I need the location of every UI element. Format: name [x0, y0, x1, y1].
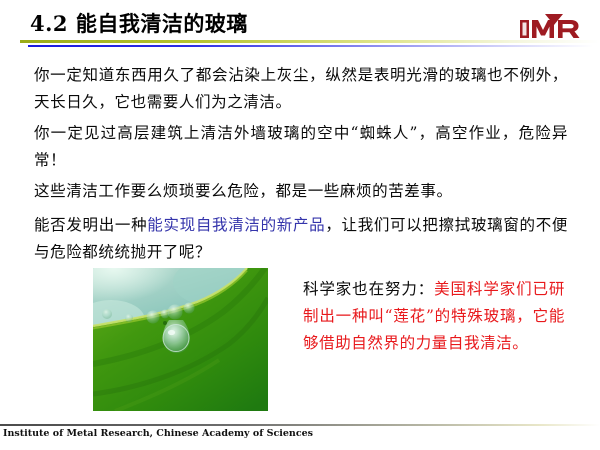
body-paragraph-4: 能否发明出一种能实现自我清洁的新产品，让我们可以把擦拭玻璃窗的不便与危险都统统抛…	[34, 212, 568, 266]
slide-canvas: 4.2 能自我清洁的玻璃 你一定知道东西用久了都会沾染上灰尘，纵然是表明光滑的玻…	[0, 0, 600, 450]
divider-green	[20, 40, 600, 43]
body-paragraph-1: 你一定知道东西用久了都会沾染上灰尘，纵然是表明光滑的玻璃也不例外，天长日久，它也…	[34, 62, 568, 116]
body-paragraph-2: 你一定见过高层建筑上清洁外墙玻璃的空中“蜘蛛人”，高空作业，危险异常！	[34, 120, 568, 174]
leaf-photo-graphic	[93, 268, 268, 411]
note-lead: 科学家也在努力：	[303, 280, 434, 298]
paragraph-4-lead: 能否发明出一种	[34, 216, 147, 234]
body-paragraph-3: 这些清洁工作要么烦琐要么危险，都是一些麻烦的苦差事。	[34, 178, 568, 205]
imr-logo-graphic	[518, 14, 590, 40]
divider-blue	[28, 45, 593, 47]
scientist-note: 科学家也在努力：美国科学家们已研制出一种叫“莲花”的特殊玻璃，它能够借助自然界的…	[303, 276, 565, 357]
paragraph-4-highlight: 能实现自我清洁的新产品	[147, 216, 325, 234]
footer-divider	[0, 424, 600, 426]
leaf-water-droplet-photo	[93, 268, 268, 411]
footer-institute-name: Institute of Metal Research, Chinese Aca…	[3, 428, 313, 439]
page-title: 4.2 能自我清洁的玻璃	[30, 8, 248, 38]
imr-logo	[518, 14, 590, 40]
